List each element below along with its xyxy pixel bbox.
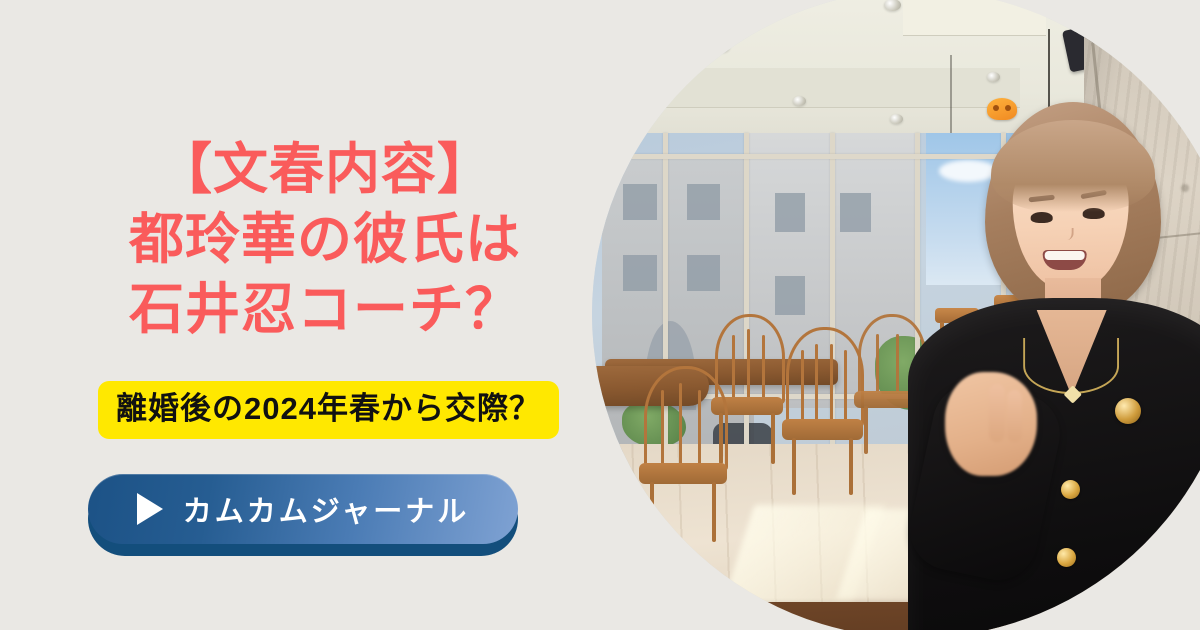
chair-spindle (844, 350, 847, 424)
chair-seat (639, 463, 726, 484)
play-triangle-icon (137, 493, 163, 525)
eye (1031, 212, 1053, 223)
cta-block: カムカムジャーナル (88, 474, 518, 556)
headline-line-1: 【文春内容】 (0, 134, 650, 204)
chair-leg (650, 482, 654, 542)
subtitle-block: 離婚後の2024年春から交際？ (98, 381, 559, 439)
chair-spindle (747, 329, 750, 401)
downlight-icon (987, 72, 1000, 82)
hair-clip-icon (987, 98, 1017, 120)
chair-seat (782, 419, 863, 439)
channel-cta-button[interactable]: カムカムジャーナル (88, 474, 518, 544)
downlight-icon (715, 41, 730, 52)
cardigan-button (1061, 480, 1080, 499)
chair-back (786, 327, 864, 427)
ceiling-beam (903, 0, 1046, 36)
chair-spindle (679, 383, 682, 467)
building-window (687, 255, 720, 291)
thumbnail-canvas: 【文春内容】 都玲華の彼氏は 石井忍コーチ？ 離婚後の2024年春から交際？ カ… (0, 0, 1200, 630)
chair-spindle (896, 334, 899, 396)
headline-block: 【文春内容】 都玲華の彼氏は 石井忍コーチ？ (0, 134, 650, 344)
headline-line-3: 石井忍コーチ？ (0, 274, 650, 344)
mouth (1043, 250, 1087, 270)
person-subject (903, 102, 1200, 630)
cardigan-button (1057, 548, 1076, 567)
building-window (840, 193, 871, 232)
building-window (687, 184, 720, 220)
cafe-scene (592, 0, 1200, 630)
building-window (775, 193, 806, 232)
chair-back (644, 366, 728, 471)
chair-spindle (801, 350, 804, 424)
hand (945, 372, 1037, 476)
wooden-chair (786, 327, 858, 495)
teeth (1045, 251, 1085, 260)
chair-leg (771, 413, 775, 464)
chair-spindle (661, 390, 664, 467)
chair-leg (849, 438, 853, 495)
chair-spindle (732, 335, 735, 401)
finger (1007, 390, 1022, 442)
headline-line-2: 都玲華の彼氏は (0, 204, 650, 274)
wooden-chair (644, 366, 722, 542)
gold-brooch (1115, 398, 1141, 424)
nose (1063, 228, 1074, 240)
cardigan-button (1053, 618, 1072, 630)
chair-leg (712, 482, 716, 542)
chair-leg (864, 406, 868, 454)
chair-back (715, 314, 785, 404)
chair-spindle (876, 334, 879, 396)
subtitle-highlight: 離婚後の2024年春から交際？ (98, 381, 559, 439)
building-window (775, 276, 806, 315)
downlight-icon (884, 0, 901, 11)
chair-spindle (815, 344, 818, 425)
cta-label: カムカムジャーナル (183, 488, 470, 530)
circular-photo (592, 0, 1200, 630)
finger (989, 384, 1005, 442)
chair-spindle (698, 390, 701, 467)
chair-spindle (830, 344, 833, 425)
chair-leg (792, 438, 796, 495)
